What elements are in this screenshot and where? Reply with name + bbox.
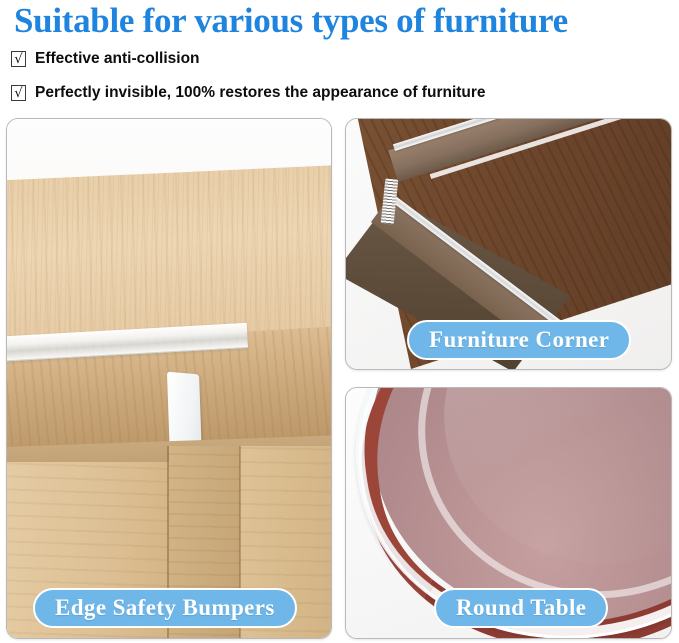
feature-label: Perfectly invisible, 100% restores the a…: [35, 84, 486, 102]
caption-badge-furniture-corner: Furniture Corner: [407, 320, 631, 360]
panel-edge-safety-bumpers: Edge Safety Bumpers: [6, 118, 332, 639]
checkbox-check-icon: √: [11, 51, 26, 67]
checkbox-check-icon: √: [11, 85, 26, 101]
caption-badge-round-table: Round Table: [434, 588, 608, 628]
caption-badge-edge-safety-bumpers: Edge Safety Bumpers: [33, 588, 297, 628]
panel-round-table: Round Table: [345, 387, 672, 639]
edge-safety-bumpers-photo: [7, 119, 331, 638]
panel-furniture-corner: Furniture Corner: [345, 118, 672, 370]
feature-item: √ Perfectly invisible, 100% restores the…: [11, 84, 486, 102]
feature-label: Effective anti-collision: [35, 50, 200, 68]
header: Suitable for various types of furniture …: [0, 0, 679, 110]
page-title: Suitable for various types of furniture: [14, 1, 568, 41]
feature-item: √ Effective anti-collision: [11, 50, 200, 68]
